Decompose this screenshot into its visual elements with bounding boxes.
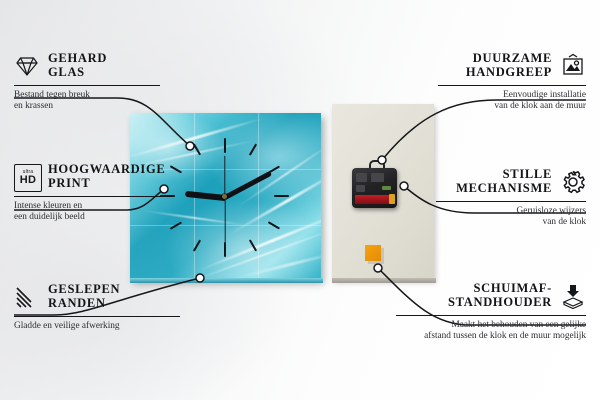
callout-divider xyxy=(14,316,180,317)
callout-subtitle: Gladde en veilige afwerking xyxy=(14,321,180,332)
wire-endpoint-houder xyxy=(374,264,382,272)
diagonal-lines-icon xyxy=(14,284,40,310)
callout-divider xyxy=(438,85,586,86)
callout-subtitle: Eenvoudige installatie van de klok aan d… xyxy=(438,90,586,113)
callout-divider xyxy=(14,196,166,197)
callout-geslepen-randen: GESLEPEN RANDEN Gladde en veilige afwerk… xyxy=(14,283,180,332)
arrow-press-pad-icon xyxy=(560,283,586,309)
callout-stille-mechanisme: STILLE MECHANISME Geruisloze wijzers van… xyxy=(436,168,586,229)
callout-duurzame-handgreep: DUURZAME HANDGREEP Eenvoudige installati… xyxy=(438,52,586,113)
callout-divider xyxy=(14,85,160,86)
wire-endpoint-mechanisme xyxy=(400,182,408,190)
diamond-icon xyxy=(14,53,40,79)
callout-hoogwaardige-print: ultra HD HOOGWAARDIGE PRINT Intense kleu… xyxy=(14,163,166,224)
callout-title: HOOGWAARDIGE PRINT xyxy=(48,163,165,190)
gear-icon xyxy=(560,169,586,195)
infographic-canvas: GEHARD GLAS Bestand tegen breuk en krass… xyxy=(0,0,600,400)
ultra-hd-icon: ultra HD xyxy=(14,164,40,190)
callout-subtitle: Maakt het behouden van een gelijke afsta… xyxy=(396,320,586,343)
callout-subtitle: Geruisloze wijzers van de klok xyxy=(436,206,586,229)
callout-divider xyxy=(396,315,586,316)
callout-title: SCHUIMAF- STANDHOUDER xyxy=(448,282,552,309)
callout-gehard-glas: GEHARD GLAS Bestand tegen breuk en krass… xyxy=(14,52,160,113)
callout-divider xyxy=(436,201,586,202)
callout-subtitle: Intense kleuren en een duidelijk beeld xyxy=(14,201,166,224)
callout-title: GESLEPEN RANDEN xyxy=(48,283,120,310)
wire-endpoint-handgreep xyxy=(378,156,386,164)
hanging-picture-icon xyxy=(560,53,586,79)
callout-title: DUURZAME HANDGREEP xyxy=(466,52,552,79)
callout-title: GEHARD GLAS xyxy=(48,52,107,79)
callout-schuimafstandhouder: SCHUIMAF- STANDHOUDER Maakt het behouden… xyxy=(396,282,586,343)
wire-endpoint-randen xyxy=(196,274,204,282)
wire-endpoint-glas xyxy=(186,142,194,150)
callout-subtitle: Bestand tegen breuk en krassen xyxy=(14,90,160,113)
callout-title: STILLE MECHANISME xyxy=(456,168,552,195)
